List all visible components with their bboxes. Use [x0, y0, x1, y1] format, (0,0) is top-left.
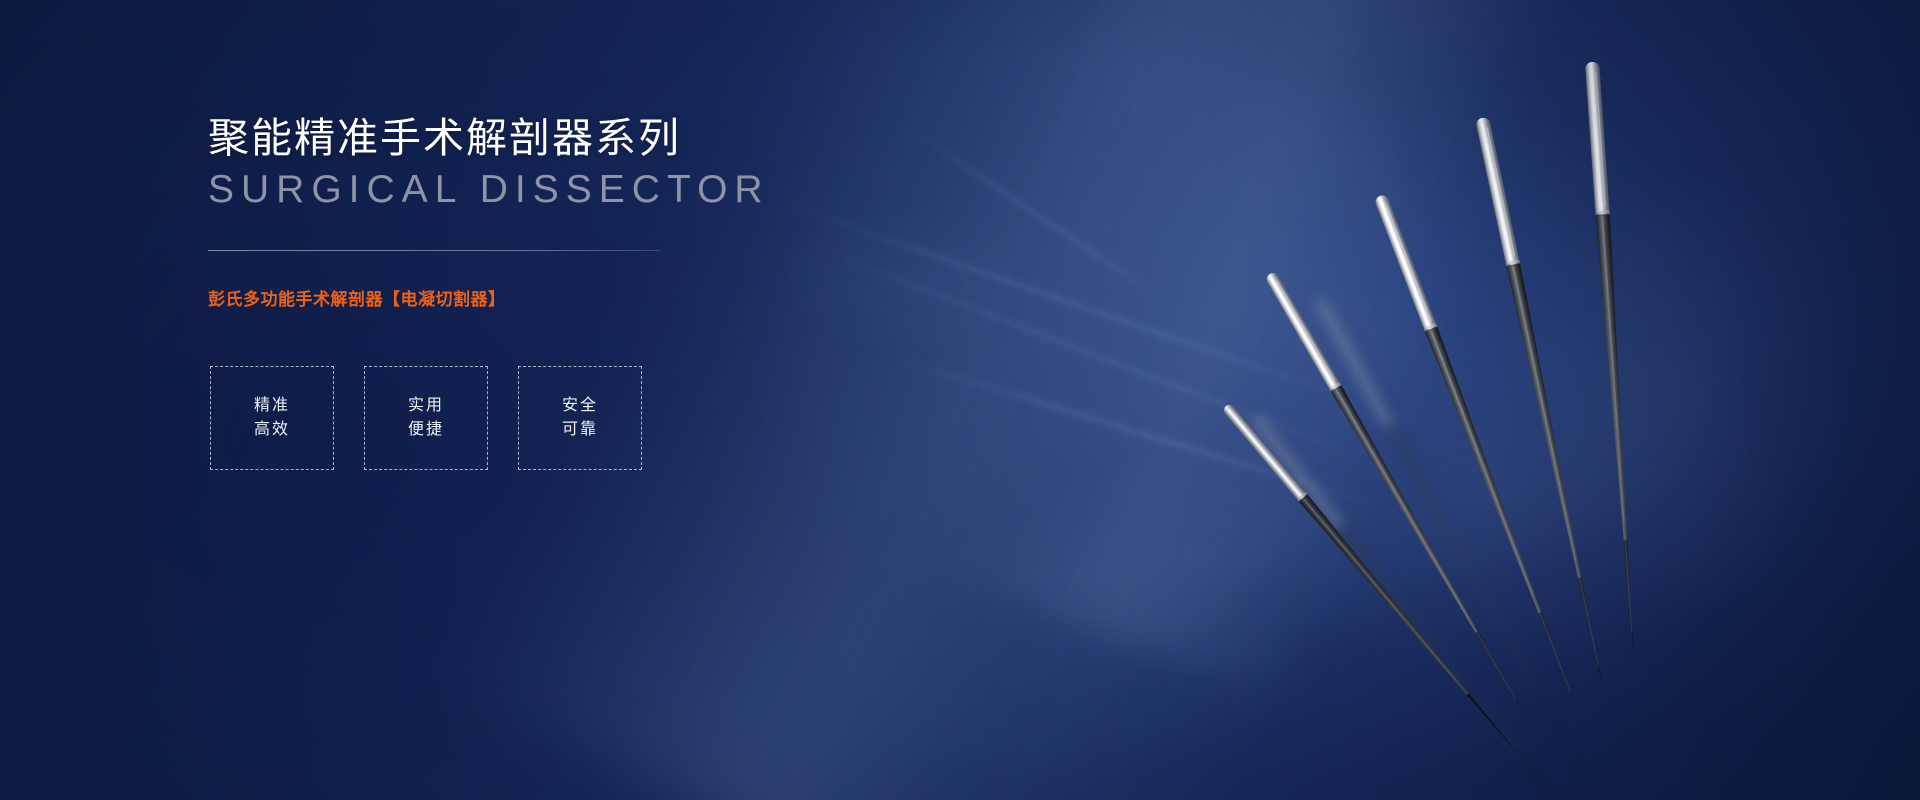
feature-line-1: 精准	[254, 398, 290, 414]
feature-line-1: 实用	[408, 398, 444, 414]
feature-line-2: 便捷	[408, 422, 444, 438]
page-subtitle-en: SURGICAL DISSECTOR	[208, 166, 828, 214]
banner-text-block: 聚能精准手术解剖器系列 SURGICAL DISSECTOR 彭氏多功能手术解剖…	[208, 112, 828, 310]
feature-line-1: 安全	[562, 398, 598, 414]
product-hero-banner: 聚能精准手术解剖器系列 SURGICAL DISSECTOR 彭氏多功能手术解剖…	[0, 0, 1920, 800]
feature-box-group: 精准 高效 实用 便捷 安全 可靠	[210, 366, 642, 470]
feature-line-2: 可靠	[562, 422, 598, 438]
feature-line-2: 高效	[254, 422, 290, 438]
feature-box-1[interactable]: 精准 高效	[210, 366, 334, 470]
page-title: 聚能精准手术解剖器系列	[208, 112, 828, 164]
divider	[208, 250, 660, 251]
feature-box-3[interactable]: 安全 可靠	[518, 366, 642, 470]
product-name-highlight: 彭氏多功能手术解剖器【电凝切割器】	[208, 285, 828, 310]
feature-box-2[interactable]: 实用 便捷	[364, 366, 488, 470]
